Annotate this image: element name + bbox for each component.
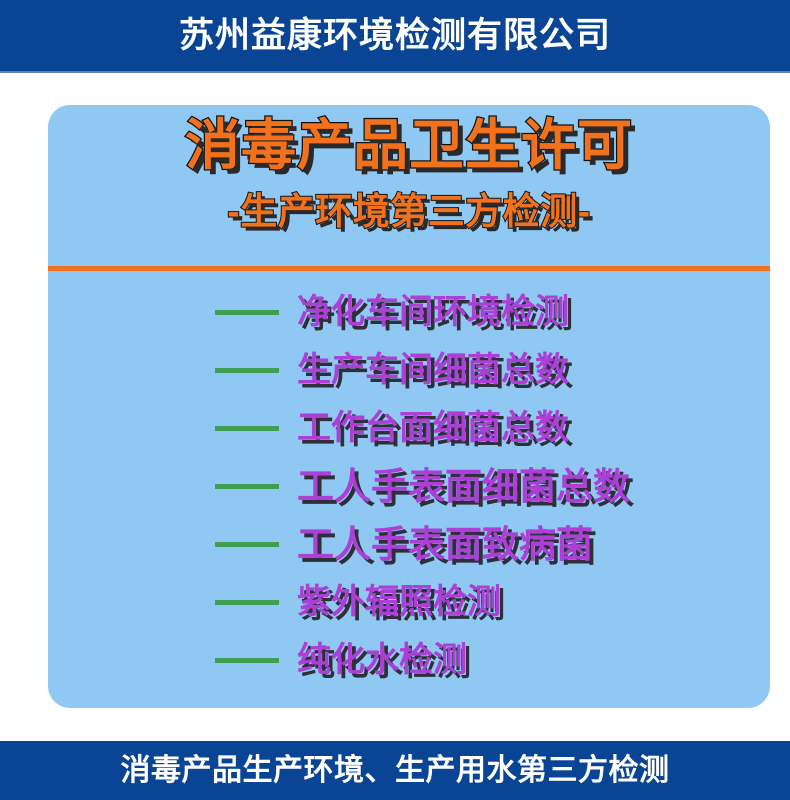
orange-divider (48, 266, 770, 271)
list-item-label: 生产车间细菌总数 (297, 353, 569, 387)
bottom-banner-text: 消毒产品生产环境、生产用水第三方检测 (121, 756, 670, 786)
list-item-label: 纯化水检测 (297, 643, 467, 677)
content-card: 消毒产品卫生许可 -生产环境第三方检测- 净化车间环境检测 生产车间细菌总数 工… (48, 105, 770, 708)
sub-title: -生产环境第三方检测- (48, 191, 770, 234)
list-item-label: 工人手表面细菌总数 (297, 468, 630, 505)
green-dash-icon (215, 542, 279, 547)
list-item[interactable]: 工作台面细菌总数 (48, 399, 770, 457)
list-item[interactable]: 紫外辐照检测 (48, 573, 770, 631)
list-item[interactable]: 净化车间环境检测 (48, 283, 770, 341)
top-banner: 苏州益康环境检测有限公司 (0, 0, 790, 73)
green-dash-icon (215, 484, 279, 489)
bottom-banner: 消毒产品生产环境、生产用水第三方检测 (0, 741, 790, 800)
card-header: 消毒产品卫生许可 -生产环境第三方检测- (48, 105, 770, 233)
list-item[interactable]: 工人手表面细菌总数 (48, 457, 770, 515)
service-list: 净化车间环境检测 生产车间细菌总数 工作台面细菌总数 工人手表面细菌总数 工人手… (48, 283, 770, 689)
green-dash-icon (215, 658, 279, 663)
list-item-label: 净化车间环境检测 (297, 295, 569, 329)
list-item[interactable]: 工人手表面致病菌 (48, 515, 770, 573)
green-dash-icon (215, 310, 279, 315)
green-dash-icon (215, 426, 279, 431)
company-name: 苏州益康环境检测有限公司 (179, 18, 611, 53)
list-item[interactable]: 纯化水检测 (48, 631, 770, 689)
list-item-label: 紫外辐照检测 (297, 585, 501, 619)
green-dash-icon (215, 600, 279, 605)
green-dash-icon (215, 368, 279, 373)
list-item-label: 工人手表面致病菌 (297, 526, 593, 563)
list-item[interactable]: 生产车间细菌总数 (48, 341, 770, 399)
list-item-label: 工作台面细菌总数 (297, 411, 569, 445)
main-title: 消毒产品卫生许可 (48, 115, 770, 177)
